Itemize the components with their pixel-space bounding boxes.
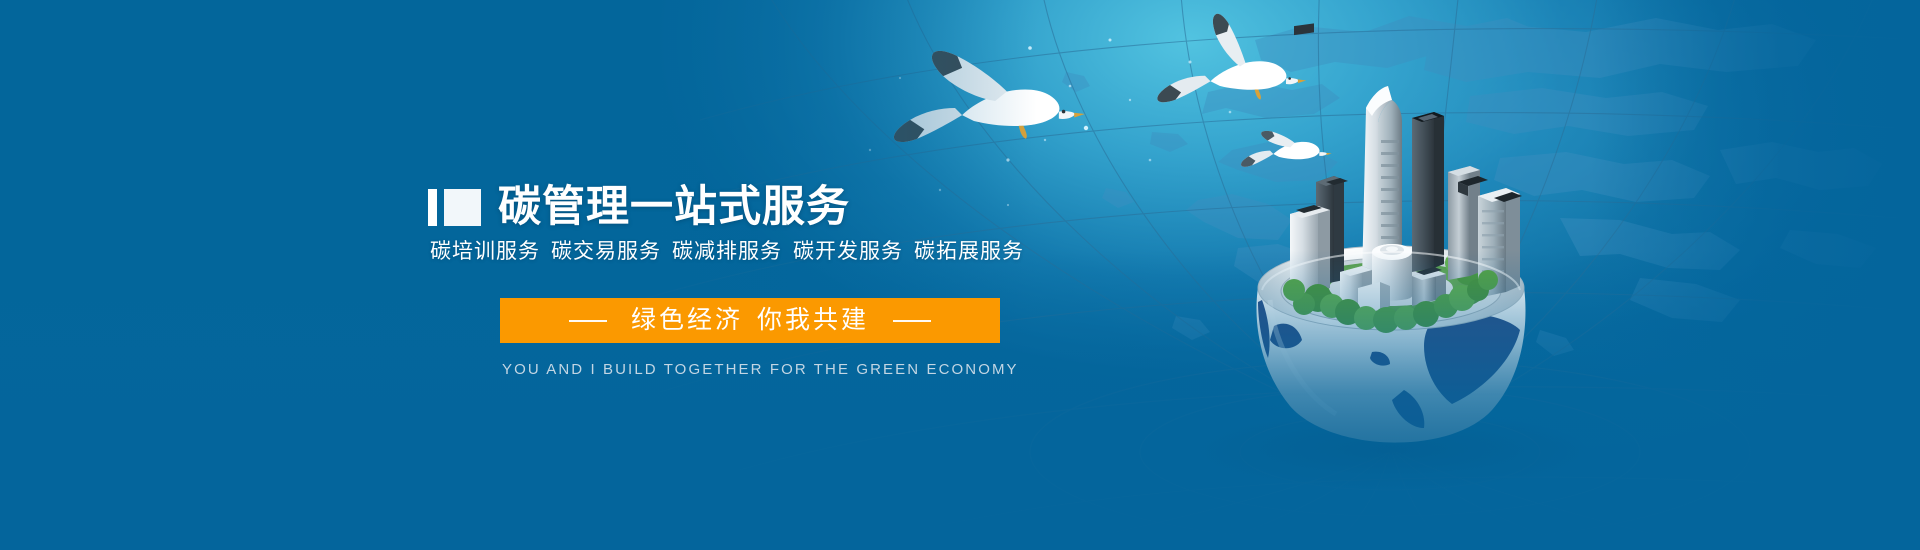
slogan-part-1: 绿色经济 xyxy=(631,306,743,334)
slogan-banner: 绿色经济你我共建 xyxy=(500,298,1000,343)
filled-square-icon xyxy=(444,189,481,226)
banner-text-block: 碳管理一站式服务 碳培训服务碳交易服务碳减排服务碳开发服务碳拓展服务 绿色经济你… xyxy=(428,182,1188,379)
tagline-english: YOU AND I BUILD TOGETHER FOR THE GREEN E… xyxy=(502,361,1002,379)
service-item-3: 碳减排服务 xyxy=(672,240,782,263)
slogan-dash-right xyxy=(893,320,931,322)
vertical-bar-icon xyxy=(428,189,437,226)
service-item-2: 碳交易服务 xyxy=(551,240,661,263)
logo-mark xyxy=(428,189,481,226)
carbon-management-banner: 碳管理一站式服务 碳培训服务碳交易服务碳减排服务碳开发服务碳拓展服务 绿色经济你… xyxy=(0,0,1920,550)
service-item-4: 碳开发服务 xyxy=(793,240,903,263)
service-list: 碳培训服务碳交易服务碳减排服务碳开发服务碳拓展服务 xyxy=(430,239,1188,265)
background-right-fade xyxy=(1590,0,1920,550)
service-item-5: 碳拓展服务 xyxy=(914,240,1024,263)
title-row: 碳管理一站式服务 xyxy=(428,182,1188,232)
slogan-part-2: 你我共建 xyxy=(757,306,869,334)
slogan-dash-left xyxy=(569,320,607,322)
page-title: 碳管理一站式服务 xyxy=(498,184,850,230)
service-item-1: 碳培训服务 xyxy=(430,240,540,263)
slogan-text: 绿色经济你我共建 xyxy=(631,308,869,333)
